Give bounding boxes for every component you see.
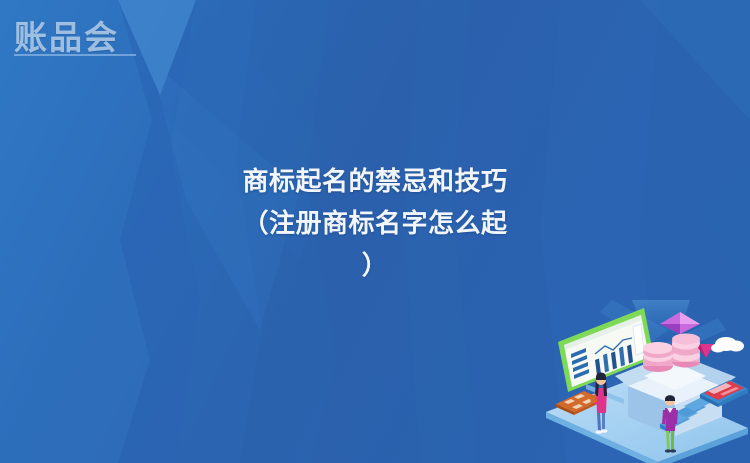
page-root: 账品会 商标起名的禁忌和技巧 （注册商标名字怎么起 ）	[0, 0, 750, 463]
site-logo-text: 账品会	[14, 21, 119, 54]
logo-underline	[14, 54, 136, 56]
isometric-illustration	[540, 300, 750, 463]
page-title-line-3: ）	[205, 244, 545, 286]
cloud-icon	[711, 337, 744, 353]
small-gem	[698, 344, 714, 358]
page-title-line-1: 商标起名的禁忌和技巧	[205, 160, 545, 202]
site-logo[interactable]: 账品会	[14, 16, 144, 58]
page-title: 商标起名的禁忌和技巧 （注册商标名字怎么起 ）	[205, 160, 545, 286]
page-title-line-2: （注册商标名字怎么起	[205, 202, 545, 244]
